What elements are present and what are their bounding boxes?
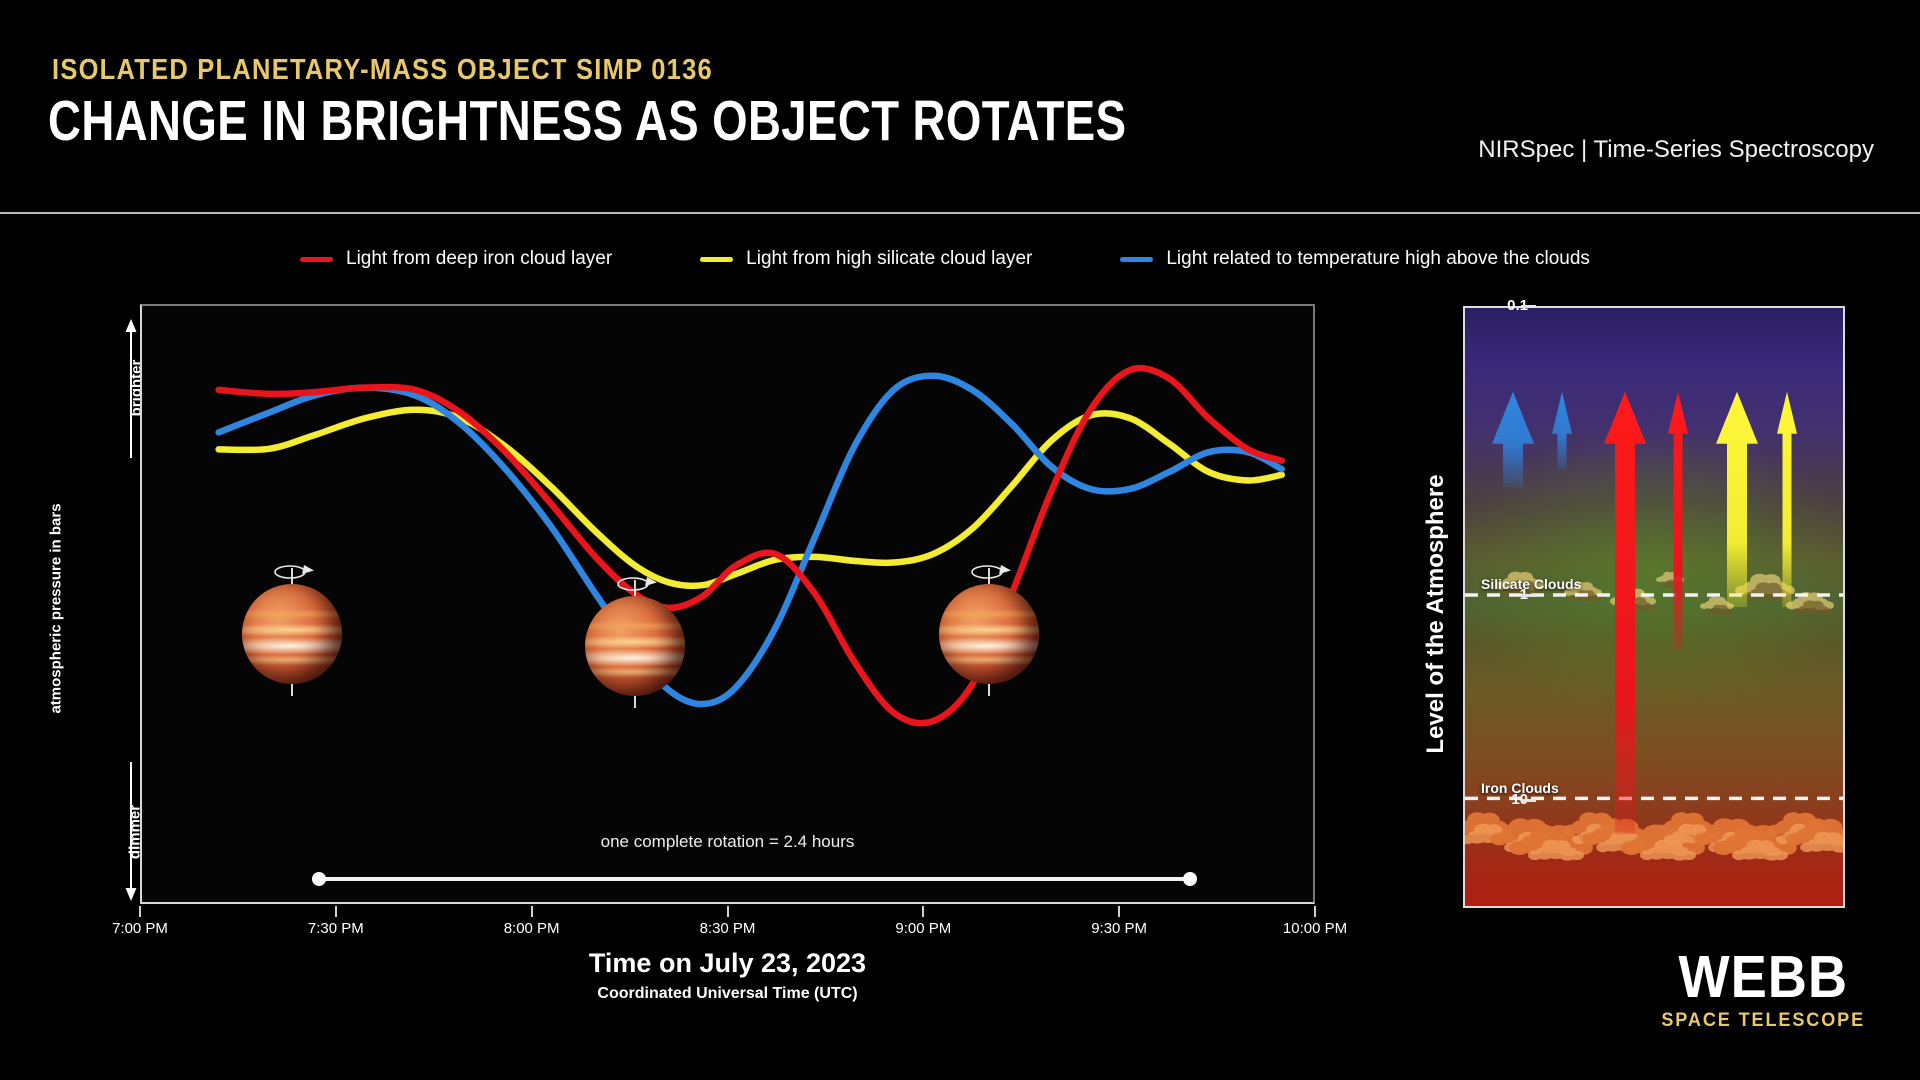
- webb-logo-sub: SPACE TELESCOPE: [1661, 1010, 1865, 1032]
- x-tick-label: 9:00 PM: [895, 920, 951, 937]
- x-axis-ticks: 7:00 PM7:30 PM8:00 PM8:30 PM9:00 PM9:30 …: [140, 906, 1315, 940]
- legend-swatch-icon: [300, 257, 333, 262]
- iron-arrow-wide: [1604, 392, 1646, 835]
- dimmer-arrow-icon: dimmer: [112, 762, 138, 902]
- legend-swatch-icon: [700, 257, 733, 262]
- pressure-tick-mark: [1521, 305, 1536, 308]
- brighter-arrow-icon: brighter: [112, 318, 138, 458]
- planet-sphere: [585, 596, 685, 696]
- rotation-annotation: one complete rotation = 2.4 hours: [140, 832, 1315, 852]
- silicate-arrow-narrow: [1777, 392, 1797, 607]
- atmosphere-axis-subtitle: atmospheric pressure in bars: [24, 360, 58, 860]
- legend-label: Light from high silicate cloud layer: [746, 248, 1032, 270]
- rotation-span-start-dot: [312, 872, 326, 886]
- temperature-arrow-wide: [1492, 392, 1534, 488]
- legend-label: Light related to temperature high above …: [1166, 248, 1590, 270]
- x-tick-label: 7:00 PM: [112, 920, 168, 937]
- rotation-arrow-icon: [963, 562, 1015, 582]
- brightness-chart: [140, 304, 1315, 904]
- atmosphere-title-main: Level of the Atmosphere: [1422, 364, 1450, 864]
- legend-item-temperature[interactable]: Light related to temperature high above …: [1120, 248, 1590, 270]
- x-axis-title-sub: Coordinated Universal Time (UTC): [140, 985, 1315, 1003]
- atmosphere-axis-title: Level of the Atmosphere: [1406, 360, 1440, 860]
- x-tick-label: 10:00 PM: [1283, 920, 1347, 937]
- webb-logo-main: WEBB: [1664, 949, 1861, 1005]
- legend-item-silicate-cloud[interactable]: Light from high silicate cloud layer: [700, 248, 1032, 270]
- rotation-arrow-icon: [609, 574, 661, 594]
- eyebrow-title: ISOLATED PLANETARY-MASS OBJECT SIMP 0136: [52, 54, 713, 87]
- planet-rotation-phase-1: [242, 562, 342, 662]
- legend-label: Light from deep iron cloud layer: [346, 248, 612, 270]
- instrument-label: NIRSpec | Time-Series Spectroscopy: [1478, 136, 1874, 164]
- series-line: [219, 376, 1282, 704]
- legend-item-iron-cloud[interactable]: Light from deep iron cloud layer: [300, 248, 612, 270]
- page-title: CHANGE IN BRIGHTNESS AS OBJECT ROTATES: [48, 88, 1126, 154]
- atmosphere-diagram: Silicate Clouds Iron Clouds: [1463, 306, 1845, 908]
- rotation-span-bar: [318, 877, 1190, 881]
- x-tick-label: 7:30 PM: [308, 920, 364, 937]
- x-tick-mark: [1314, 906, 1316, 917]
- infographic-root: ISOLATED PLANETARY-MASS OBJECT SIMP 0136…: [0, 0, 1920, 1080]
- x-tick-mark: [922, 906, 924, 917]
- planet-rotation-phase-2: [585, 574, 685, 674]
- planet-sphere: [939, 584, 1039, 684]
- x-tick-mark: [727, 906, 729, 917]
- silicate-arrow-wide: [1716, 392, 1758, 607]
- atmosphere-contents: [1465, 308, 1843, 906]
- x-tick-label: 9:30 PM: [1091, 920, 1147, 937]
- header-divider: [0, 212, 1920, 214]
- planet-rotation-phase-3: [939, 562, 1039, 662]
- x-tick-mark: [531, 906, 533, 917]
- x-tick-mark: [139, 906, 141, 917]
- pressure-tick-mark: [1521, 799, 1536, 802]
- rotation-span-end-dot: [1183, 872, 1197, 886]
- x-axis-title: Time on July 23, 2023 Coordinated Univer…: [140, 948, 1315, 1003]
- x-tick-label: 8:30 PM: [700, 920, 756, 937]
- atmosphere-title-sub: atmospheric pressure in bars: [48, 359, 65, 859]
- x-tick-label: 8:00 PM: [504, 920, 560, 937]
- iron-arrow-narrow: [1668, 392, 1688, 649]
- chart-legend: Light from deep iron cloud layer Light f…: [300, 248, 1590, 270]
- atmosphere-box: Silicate Clouds Iron Clouds: [1463, 306, 1845, 908]
- x-tick-mark: [335, 906, 337, 917]
- legend-swatch-icon: [1120, 257, 1153, 262]
- silicate-clouds-label: Silicate Clouds: [1481, 576, 1581, 592]
- rotation-arrow-icon: [266, 562, 318, 582]
- temperature-arrow-narrow: [1552, 392, 1572, 470]
- planet-sphere: [242, 584, 342, 684]
- x-tick-mark: [1118, 906, 1120, 917]
- webb-logo: WEBB SPACE TELESCOPE: [1656, 949, 1870, 1032]
- x-axis-title-main: Time on July 23, 2023: [140, 948, 1315, 979]
- pressure-tick-mark: [1521, 594, 1536, 597]
